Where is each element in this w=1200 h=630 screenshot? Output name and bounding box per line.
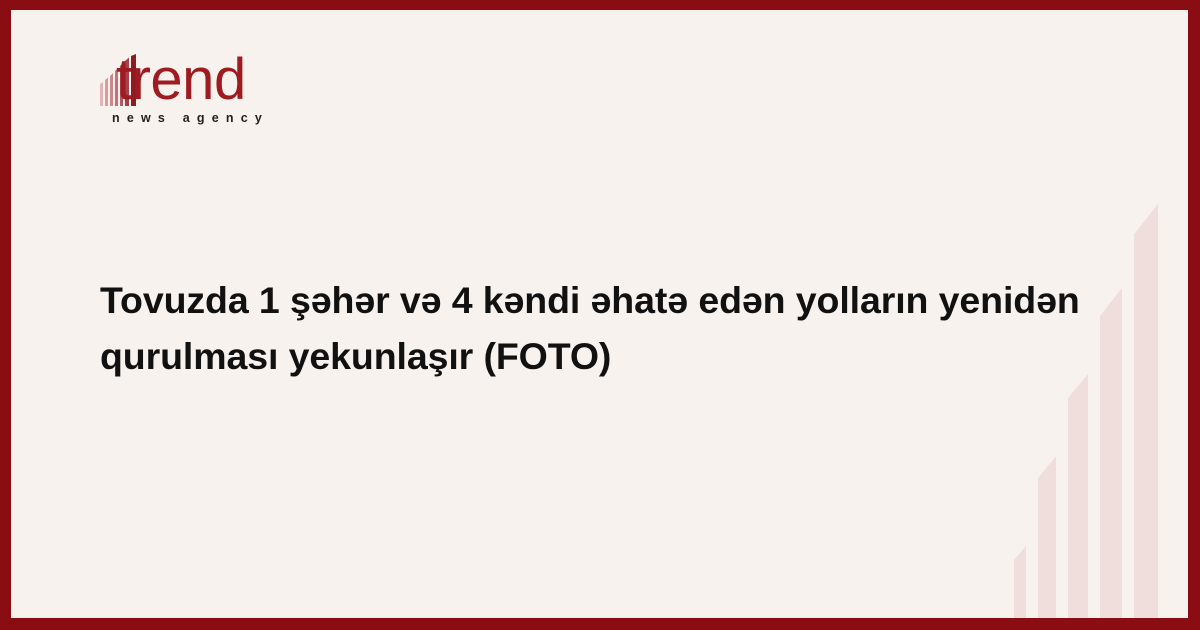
logo-wordmark: trend (116, 53, 246, 106)
article-card: trend news agency Tovuzda 1 şəhər və 4 k… (0, 0, 1200, 630)
card-canvas: trend news agency Tovuzda 1 şəhər və 4 k… (11, 10, 1188, 618)
logo-tagline: news agency (112, 111, 350, 125)
page-title: Tovuzda 1 şəhər və 4 kəndi əhatə edən yo… (100, 272, 1100, 384)
logo-row: trend (100, 48, 350, 106)
ascending-bars-watermark-icon (1008, 188, 1188, 618)
brand-logo[interactable]: trend news agency (100, 48, 350, 125)
